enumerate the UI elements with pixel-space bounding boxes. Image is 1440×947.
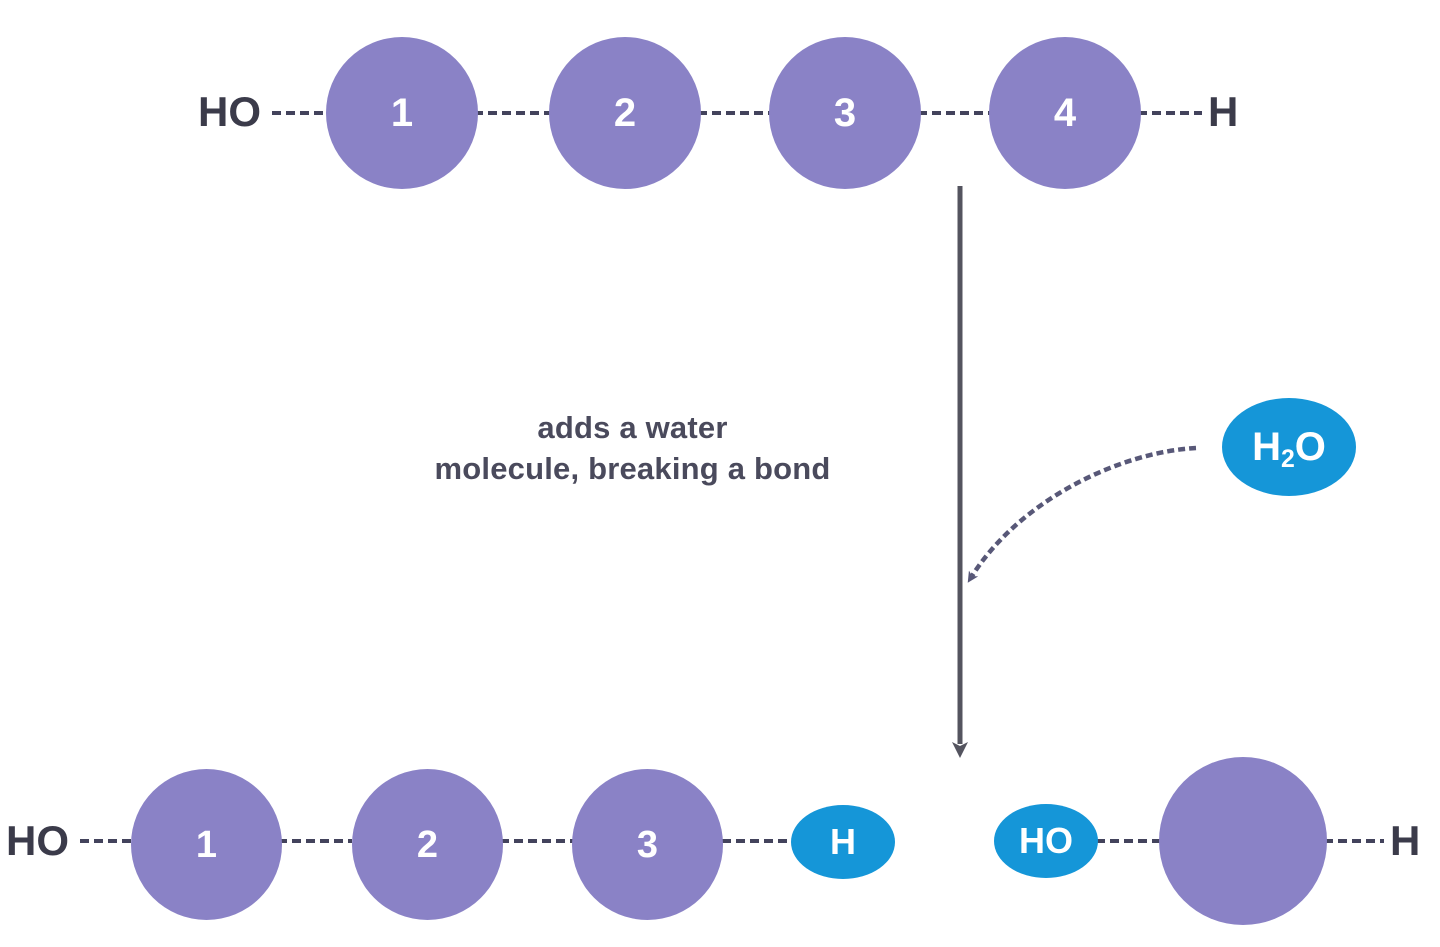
top-monomer-2: 2 (549, 37, 701, 189)
bottom-right-leading-ho-label: HO (1019, 823, 1073, 859)
top-monomer-4-label: 4 (1054, 93, 1076, 133)
reaction-caption-line-1: adds a water (360, 408, 905, 449)
bottom-monomer-2: 2 (352, 769, 503, 920)
top-monomer-3-label: 3 (834, 93, 856, 133)
top-chain-right-label: H (1208, 91, 1238, 133)
top-monomer-1-label: 1 (391, 93, 413, 133)
bottom-left-terminal-h-label: H (830, 824, 856, 860)
top-monomer-1: 1 (326, 37, 478, 189)
diagram-canvas: HO 1 2 3 4 H adds a water molecule, brea… (0, 0, 1440, 947)
water-subscript-2: 2 (1281, 446, 1295, 473)
bottom-left-chain-label: HO (6, 820, 69, 862)
water-molecule-label: H2O (1252, 427, 1326, 467)
water-molecule-bubble: H2O (1222, 398, 1356, 496)
bottom-right-chain-label: H (1390, 820, 1420, 862)
bottom-left-terminal-h-bubble: H (791, 805, 895, 879)
bottom-right-monomer (1159, 757, 1327, 925)
bottom-monomer-1-label: 1 (196, 826, 217, 864)
bottom-monomer-1: 1 (131, 769, 282, 920)
water-curved-arrow (972, 448, 1196, 576)
top-monomer-4: 4 (989, 37, 1141, 189)
bottom-monomer-2-label: 2 (417, 826, 438, 864)
bottom-monomer-3-label: 3 (637, 826, 658, 864)
bottom-monomer-3: 3 (572, 769, 723, 920)
reaction-caption-line-2: molecule, breaking a bond (360, 449, 905, 490)
top-monomer-2-label: 2 (614, 93, 636, 133)
water-o-label: O (1295, 425, 1326, 469)
top-chain-left-label: HO (198, 91, 261, 133)
reaction-caption: adds a water molecule, breaking a bond (360, 408, 905, 490)
top-monomer-3: 3 (769, 37, 921, 189)
water-h-label: H (1252, 425, 1281, 469)
bottom-right-leading-ho-bubble: HO (994, 804, 1098, 878)
